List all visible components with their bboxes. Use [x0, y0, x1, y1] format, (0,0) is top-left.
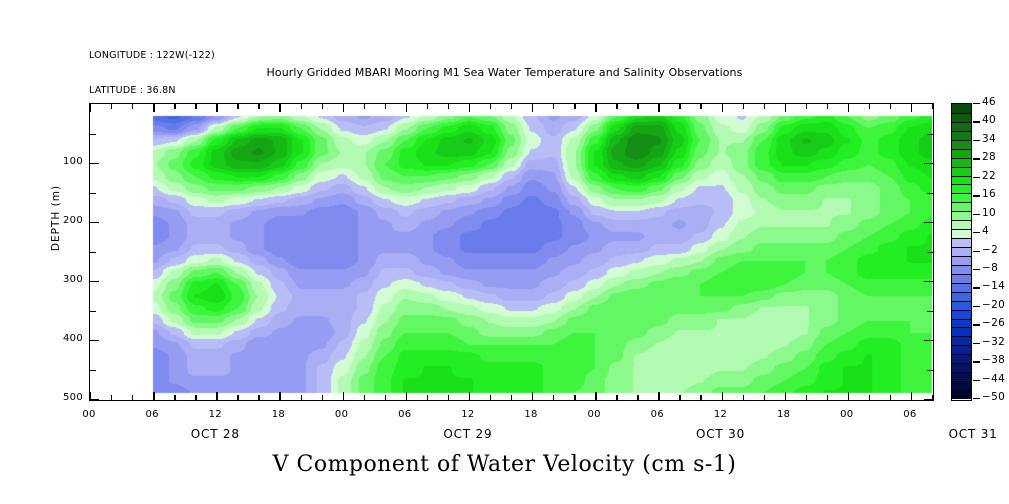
x-axis-tick [279, 392, 280, 400]
colorbar-tick [973, 103, 980, 104]
x-axis-tick [427, 104, 428, 109]
colorbar-band [952, 390, 971, 399]
colorbar-band [952, 292, 971, 301]
x-axis-tick [722, 104, 723, 112]
latitude-text: LATITUDE : 36.8N [89, 85, 215, 97]
y-axis-depth-label: 100 [37, 156, 83, 167]
x-axis-tick [153, 392, 154, 400]
x-axis-tick [322, 104, 323, 109]
x-axis-hour-label: 06 [132, 409, 172, 420]
colorbar-tick [973, 380, 980, 381]
colorbar-band [952, 113, 971, 122]
x-axis-tick [195, 395, 196, 400]
longitude-text: LONGITUDE : 122W(-122) [89, 50, 215, 62]
x-axis-hour-label: 18 [258, 409, 298, 420]
x-axis-tick [111, 395, 112, 400]
colorbar-band [952, 327, 971, 336]
colorbar-label: −32 [982, 336, 1005, 348]
x-axis-hour-label: 18 [511, 409, 551, 420]
colorbar-label: 4 [982, 225, 989, 237]
x-axis-tick [616, 395, 617, 400]
x-axis-hour-label: 12 [701, 409, 741, 420]
x-axis-tick [469, 392, 470, 400]
y-axis-tick [90, 340, 99, 341]
x-axis-tick [258, 104, 259, 109]
colorbar-tick [973, 324, 980, 325]
x-axis-tick [574, 104, 575, 109]
x-axis-tick [406, 104, 407, 112]
x-axis-tick [869, 395, 870, 400]
x-axis-tick [700, 395, 701, 400]
colorbar-tick [973, 269, 980, 270]
y-axis-tick [90, 311, 96, 312]
plot-caption: V Component of Water Velocity (cm s-1) [0, 452, 1009, 477]
y-axis-tick [924, 222, 933, 223]
x-axis-tick [574, 395, 575, 400]
x-axis-tick [806, 395, 807, 400]
x-axis-tick [806, 104, 807, 109]
x-axis-tick [153, 104, 154, 112]
colorbar-band [952, 202, 971, 211]
x-axis-tick [658, 392, 659, 400]
y-axis-tick [90, 281, 99, 282]
x-axis-tick [195, 104, 196, 109]
x-axis-tick [490, 395, 491, 400]
x-axis-tick [174, 104, 175, 109]
x-axis-tick [785, 104, 786, 112]
x-axis-tick [111, 104, 112, 109]
colorbar-band [952, 220, 971, 229]
colorbar-tick [973, 121, 980, 122]
y-axis-depth-label: 400 [37, 333, 83, 344]
x-axis-tick [890, 104, 891, 109]
x-axis-hour-label: 06 [890, 409, 930, 420]
x-axis-day-label: OCT 28 [145, 427, 285, 441]
y-axis-tick [924, 399, 933, 400]
x-axis-tick [174, 395, 175, 400]
x-axis-hour-label: 00 [827, 409, 867, 420]
y-axis-tick [90, 222, 99, 223]
colorbar-tick [973, 158, 980, 159]
x-axis-tick [322, 395, 323, 400]
x-axis-tick [679, 395, 680, 400]
y-axis-tick [90, 163, 99, 164]
y-axis-tick [924, 163, 933, 164]
x-axis-tick [911, 392, 912, 400]
x-axis-hour-label: 18 [764, 409, 804, 420]
colorbar-band [952, 122, 971, 131]
x-axis-tick [364, 104, 365, 109]
x-axis-tick [237, 395, 238, 400]
colorbar-band [952, 274, 971, 283]
colorbar-band [952, 167, 971, 176]
colorbar-tick [973, 343, 980, 344]
y-axis-depth-label: 500 [37, 392, 83, 403]
x-axis-tick [427, 395, 428, 400]
x-axis-tick [595, 392, 596, 400]
chart-title: Hourly Gridded MBARI Mooring M1 Sea Wate… [0, 66, 1009, 79]
colorbar-band [952, 229, 971, 238]
colorbar-label: −26 [982, 317, 1005, 329]
y-axis-depth-label: 200 [37, 215, 83, 226]
x-axis-day-label: OCT 30 [651, 427, 791, 441]
colorbar-label: 28 [982, 151, 996, 163]
colorbar-band [952, 104, 971, 113]
x-axis-tick [216, 104, 217, 112]
plot-page: LONGITUDE : 122W(-122) LATITUDE : 36.8N … [0, 0, 1009, 504]
colorbar-band [952, 193, 971, 202]
colorbar-label: −8 [982, 262, 998, 274]
colorbar-band [952, 256, 971, 265]
x-axis-hour-label: 00 [69, 409, 109, 420]
x-axis-tick [237, 104, 238, 109]
x-axis-tick [890, 395, 891, 400]
x-axis-tick [132, 104, 133, 109]
colorbar-band [952, 363, 971, 372]
colorbar-label: 46 [982, 96, 996, 108]
x-axis-day-label: OCT 31 [903, 427, 1009, 441]
x-axis-tick [343, 392, 344, 400]
colorbar-label: −38 [982, 354, 1005, 366]
colorbar-tick [973, 306, 980, 307]
x-axis-tick [448, 395, 449, 400]
x-axis-tick [279, 104, 280, 112]
x-axis-tick [764, 104, 765, 109]
colorbar-tick [973, 361, 980, 362]
colorbar-band [952, 149, 971, 158]
x-axis-tick [553, 395, 554, 400]
colorbar-band [952, 265, 971, 274]
colorbar-label: −2 [982, 244, 998, 256]
x-axis-hour-label: 12 [448, 409, 488, 420]
y-axis-tick [927, 370, 933, 371]
x-axis-hour-label: 00 [322, 409, 362, 420]
colorbar-band [952, 336, 971, 345]
colorbar-band [952, 345, 971, 354]
x-axis-tick [932, 104, 933, 109]
colorbar-band [952, 140, 971, 149]
x-axis-tick [258, 395, 259, 400]
x-axis-tick [616, 104, 617, 109]
colorbar [951, 103, 972, 401]
x-axis-tick [827, 104, 828, 109]
colorbar-band [952, 131, 971, 140]
y-axis-tick [90, 193, 96, 194]
x-axis-tick [827, 395, 828, 400]
x-axis-tick [637, 104, 638, 109]
x-axis-tick [722, 392, 723, 400]
y-axis-tick [90, 370, 96, 371]
x-axis-hour-label: 12 [195, 409, 235, 420]
colorbar-label: 16 [982, 188, 996, 200]
x-axis-tick [301, 104, 302, 109]
y-axis-tick [927, 252, 933, 253]
x-axis-tick [743, 395, 744, 400]
colorbar-label: 40 [982, 114, 996, 126]
x-axis-tick [911, 104, 912, 112]
y-axis-tick [924, 281, 933, 282]
x-axis-hour-label: 06 [385, 409, 425, 420]
colorbar-band [952, 247, 971, 256]
x-axis-tick [679, 104, 680, 109]
plot-area [89, 103, 934, 401]
colorbar-tick [973, 177, 980, 178]
x-axis-hour-label: 06 [637, 409, 677, 420]
x-axis-tick [869, 104, 870, 109]
colorbar-tick [973, 195, 980, 196]
x-axis-day-label: OCT 29 [398, 427, 538, 441]
y-axis-tick [90, 134, 96, 135]
colorbar-tick [973, 287, 980, 288]
x-axis-tick [469, 104, 470, 112]
x-axis-tick [385, 395, 386, 400]
x-axis-tick [511, 104, 512, 109]
x-axis-tick [490, 104, 491, 109]
x-axis-tick [595, 104, 596, 112]
x-axis-tick [764, 395, 765, 400]
x-axis-tick [637, 395, 638, 400]
x-axis-tick [448, 104, 449, 109]
x-axis-tick [553, 104, 554, 109]
y-axis-depth-label: 300 [37, 274, 83, 285]
x-axis-tick [743, 104, 744, 109]
x-axis-tick [848, 392, 849, 400]
colorbar-label: −44 [982, 373, 1005, 385]
velocity-heatmap [90, 104, 932, 399]
colorbar-tick [973, 214, 980, 215]
x-axis-tick [511, 395, 512, 400]
x-axis-tick [90, 104, 91, 112]
x-axis-tick [532, 104, 533, 112]
colorbar-label: 22 [982, 170, 996, 182]
colorbar-band [952, 301, 971, 310]
x-axis-tick [658, 104, 659, 112]
x-axis-tick [364, 395, 365, 400]
x-axis-tick [785, 392, 786, 400]
x-axis-tick [406, 392, 407, 400]
colorbar-label: −50 [982, 391, 1005, 403]
colorbar-band [952, 381, 971, 390]
colorbar-band [952, 176, 971, 185]
x-axis-tick [700, 104, 701, 109]
colorbar-band [952, 184, 971, 193]
y-axis-tick [90, 399, 99, 400]
x-axis-tick [848, 104, 849, 112]
y-axis-tick [927, 193, 933, 194]
colorbar-band [952, 158, 971, 167]
colorbar-tick [973, 398, 980, 399]
y-axis-tick [90, 252, 96, 253]
colorbar-tick [973, 251, 980, 252]
colorbar-band [952, 310, 971, 319]
y-axis-tick [924, 340, 933, 341]
y-axis-tick [927, 311, 933, 312]
colorbar-band [952, 283, 971, 292]
colorbar-label: 10 [982, 207, 996, 219]
colorbar-label: −14 [982, 280, 1005, 292]
colorbar-band [952, 372, 971, 381]
x-axis-tick [343, 104, 344, 112]
x-axis-tick [216, 392, 217, 400]
x-axis-tick [301, 395, 302, 400]
colorbar-band [952, 238, 971, 247]
y-axis-tick [927, 134, 933, 135]
colorbar-band [952, 319, 971, 328]
colorbar-band [952, 211, 971, 220]
x-axis-tick [532, 392, 533, 400]
colorbar-tick [973, 140, 980, 141]
x-axis-tick [132, 395, 133, 400]
colorbar-tick [973, 232, 980, 233]
colorbar-label: 34 [982, 133, 996, 145]
colorbar-band [952, 354, 971, 363]
x-axis-tick [385, 104, 386, 109]
x-axis-hour-label: 00 [574, 409, 614, 420]
colorbar-label: −20 [982, 299, 1005, 311]
